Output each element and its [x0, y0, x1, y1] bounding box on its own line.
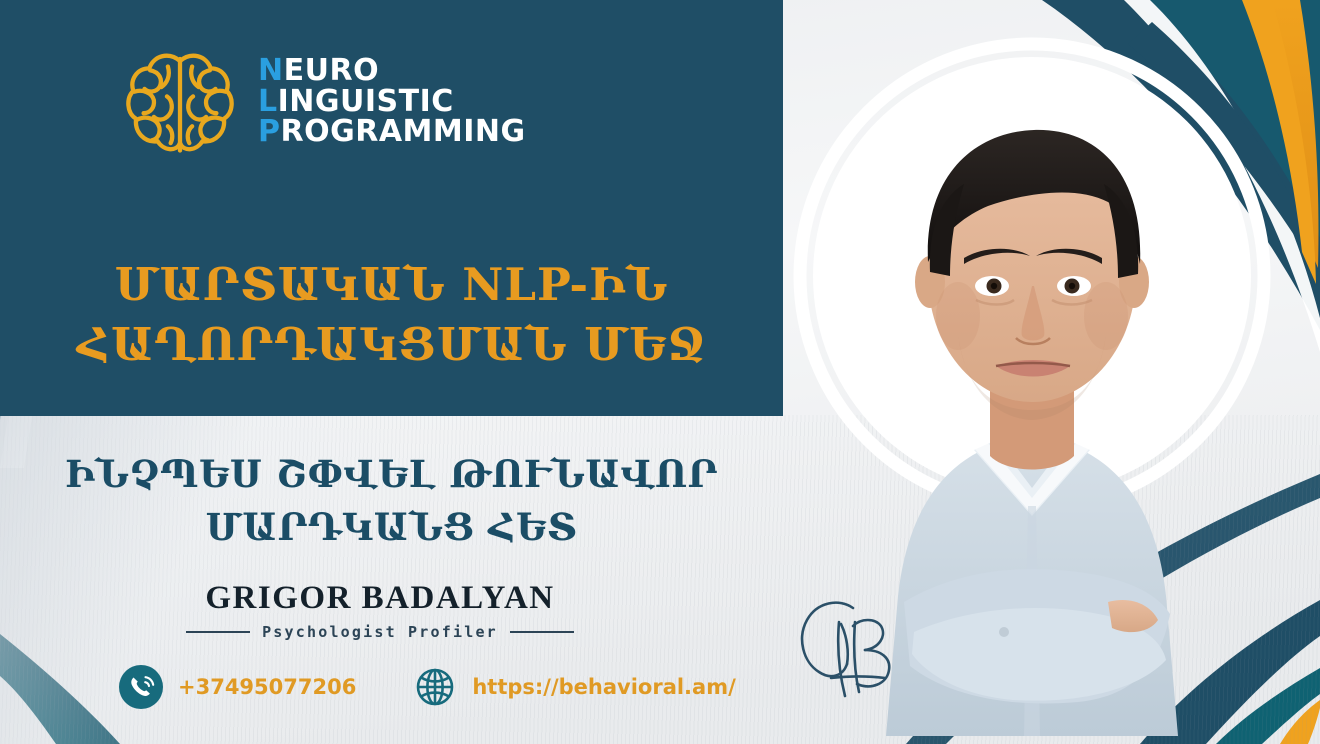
brain-icon	[124, 46, 236, 158]
subtitle-line-1: ԻՆՉՊԵՍ ՇՓՎԵԼ ԹՈՒՆԱՎՈՐ	[0, 448, 783, 501]
signature-mark	[795, 592, 925, 702]
brand-logo: NEURO LINGUISTIC PROGRAMMING	[124, 46, 526, 158]
website-url[interactable]: https://behavioral.am/	[472, 675, 735, 699]
subtitle: ԻՆՉՊԵՍ ՇՓՎԵԼ ԹՈՒՆԱՎՈՐ ՄԱՐԴԿԱՆՑ ՀԵՏ	[0, 448, 783, 553]
phone-icon[interactable]	[118, 664, 164, 710]
logo-rest-programming: ROGRAMMING	[281, 114, 526, 149]
subtitle-line-2: ՄԱՐԴԿԱՆՑ ՀԵՏ	[0, 501, 783, 554]
logo-key-p: P	[258, 114, 281, 149]
contact-phone[interactable]: +37495077206	[118, 664, 356, 710]
headline-line-2: ՀԱՂՈՐԴԱԿՑՄԱՆ ՄԵՋ	[0, 315, 783, 375]
presenter-role: Psychologist Profiler	[262, 623, 498, 641]
headline: ՄԱՐՏԱԿԱՆ NLP-ԻՆ ՀԱՂՈՐԴԱԿՑՄԱՆ ՄԵՋ	[0, 255, 783, 375]
rule-left	[186, 631, 250, 633]
logo-line-linguistic: LINGUISTIC	[258, 87, 526, 118]
presenter-name: GRIGOR BADALYAN	[0, 580, 760, 617]
phone-number[interactable]: +37495077206	[178, 675, 356, 699]
headline-line-1: ՄԱՐՏԱԿԱՆ NLP-ԻՆ	[0, 255, 783, 315]
contact-website[interactable]: https://behavioral.am/	[412, 664, 735, 710]
poster-canvas: NEURO LINGUISTIC PROGRAMMING ՄԱՐՏԱԿԱՆ NL…	[0, 0, 1320, 744]
globe-icon[interactable]	[412, 664, 458, 710]
brand-wordmark: NEURO LINGUISTIC PROGRAMMING	[258, 56, 526, 148]
contact-bar: +37495077206 https://behavioral.am/	[118, 664, 736, 710]
presenter-role-row: Psychologist Profiler	[0, 623, 760, 641]
rule-right	[510, 631, 574, 633]
logo-line-neuro: NEURO	[258, 56, 526, 87]
presenter-block: GRIGOR BADALYAN Psychologist Profiler	[0, 580, 760, 641]
logo-line-programming: PROGRAMMING	[258, 117, 526, 148]
